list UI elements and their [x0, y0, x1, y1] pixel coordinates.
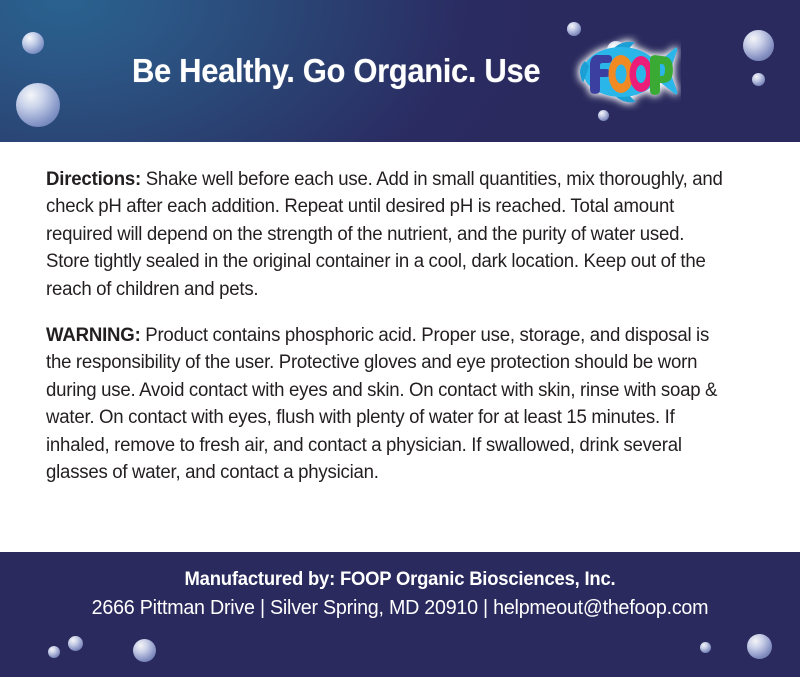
warning-paragraph: WARNING: Product contains phosphoric aci…	[46, 322, 727, 486]
headline-tagline: Be Healthy. Go Organic. Use	[132, 52, 540, 90]
foop-fish-logo	[569, 33, 681, 111]
product-label: Be Healthy. Go Organic. Use	[0, 0, 800, 677]
manufacturer-line: Manufactured by: FOOP Organic Bioscience…	[12, 566, 788, 593]
bubble-decoration	[133, 639, 156, 662]
bubble-decoration	[68, 636, 83, 651]
warning-text: Product contains phosphoric acid. Proper…	[46, 325, 717, 483]
bubble-decoration	[747, 634, 772, 659]
bubble-decoration	[700, 642, 711, 653]
label-header: Be Healthy. Go Organic. Use	[0, 0, 800, 142]
bubble-decoration	[48, 646, 60, 658]
directions-text: Shake well before each use. Add in small…	[46, 169, 723, 300]
label-body: Directions: Shake well before each use. …	[0, 142, 800, 552]
warning-label: WARNING:	[46, 325, 141, 346]
footer-contact-block: Manufactured by: FOOP Organic Bioscience…	[0, 566, 800, 623]
directions-label: Directions:	[46, 169, 141, 190]
label-footer: Manufactured by: FOOP Organic Bioscience…	[0, 552, 800, 677]
header-content: Be Healthy. Go Organic. Use	[0, 0, 800, 142]
directions-paragraph: Directions: Shake well before each use. …	[46, 166, 727, 303]
address-line: 2666 Pittman Drive | Silver Spring, MD 2…	[16, 593, 784, 623]
